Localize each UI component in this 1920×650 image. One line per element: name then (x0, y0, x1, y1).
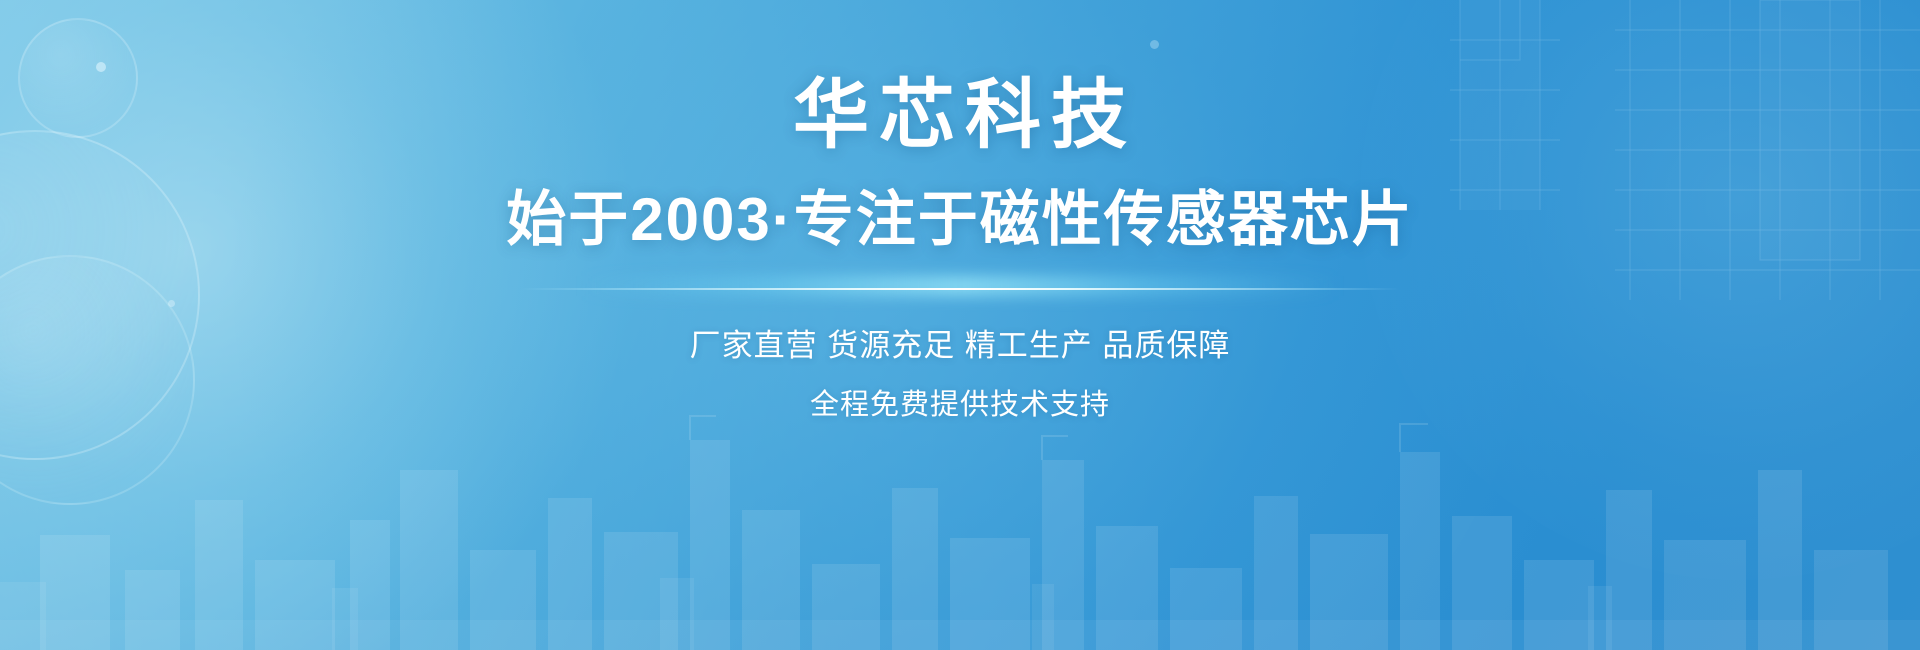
glow-divider (520, 282, 1400, 296)
support-note: 全程免费提供技术支持 (810, 391, 1110, 420)
divider-glow (580, 276, 1340, 296)
page-title: 华芯科技 (783, 78, 1137, 154)
feature-list: 厂家直营 货源充足 精工生产 品质保障 (690, 330, 1231, 361)
banner-subtitle: 始于2003·专注于磁性传感器芯片 (506, 190, 1413, 250)
banner-content: 华芯科技 始于2003·专注于磁性传感器芯片 厂家直营 货源充足 精工生产 品质… (0, 0, 1920, 650)
hero-banner: 华芯科技 始于2003·专注于磁性传感器芯片 厂家直营 货源充足 精工生产 品质… (0, 0, 1920, 650)
divider-line (520, 288, 1400, 290)
